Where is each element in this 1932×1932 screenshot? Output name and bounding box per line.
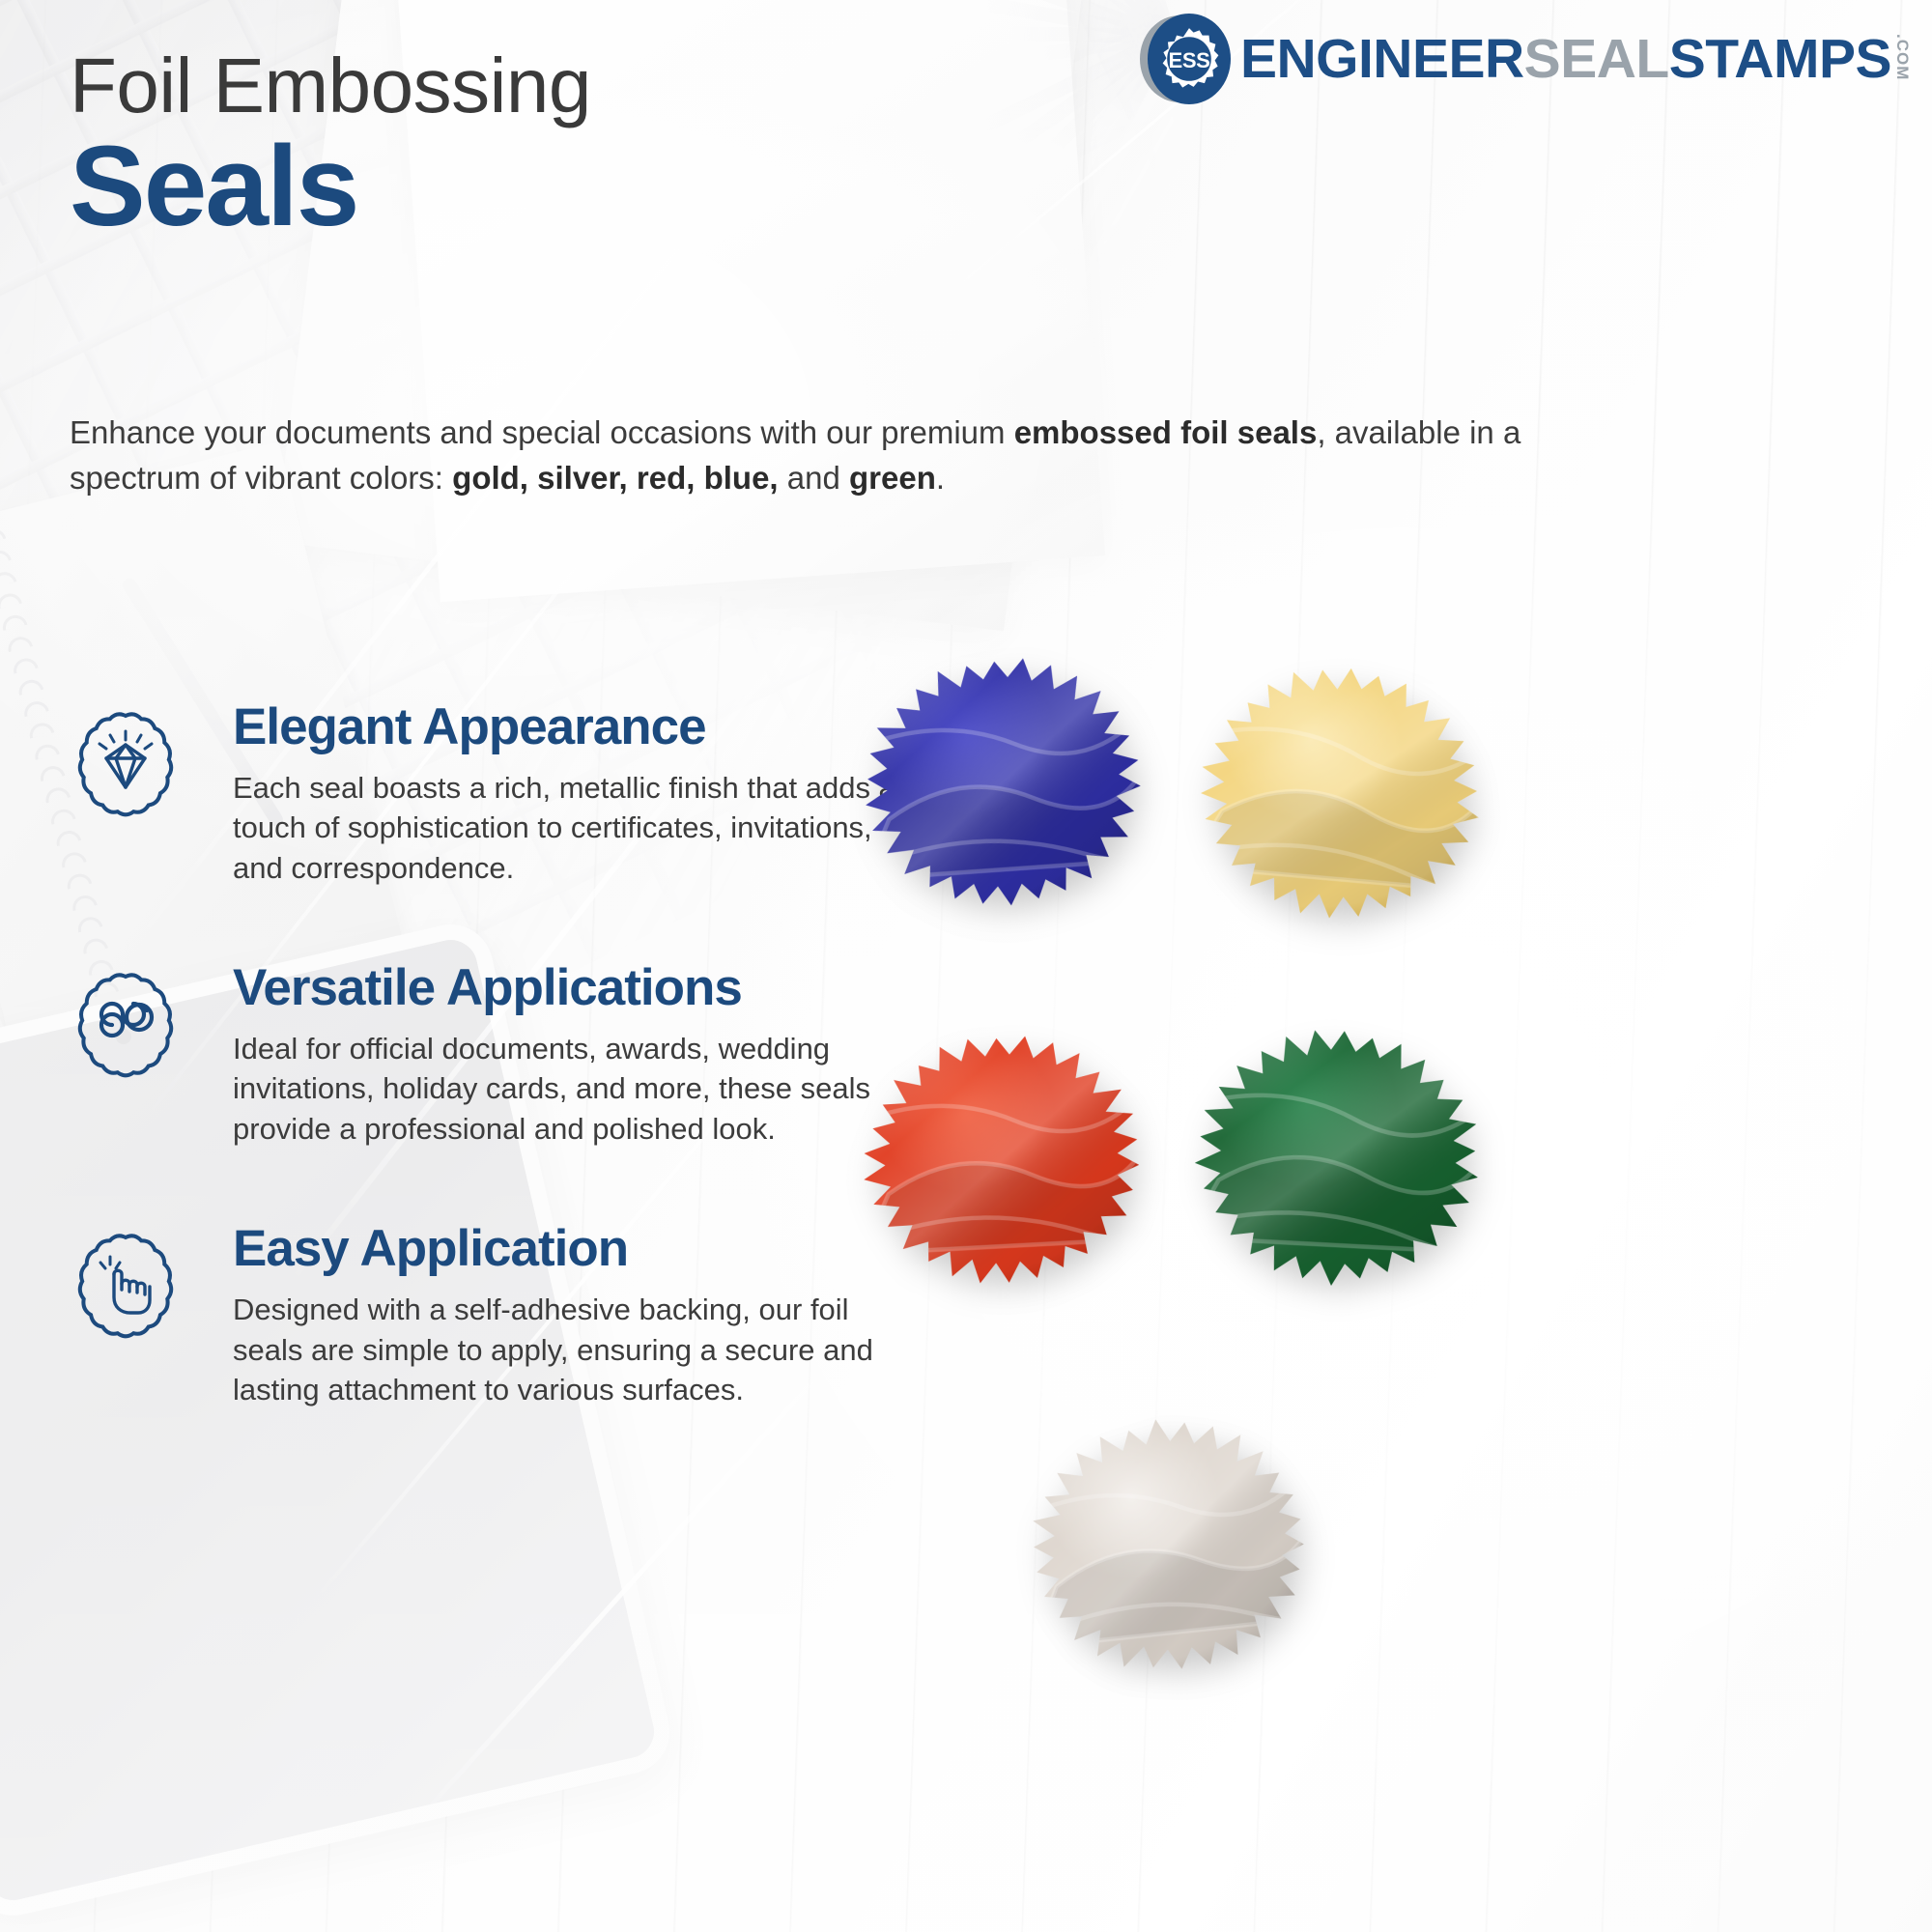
feature-body: Each seal boasts a rich, metallic finish… <box>233 768 914 889</box>
svg-text:ESS: ESS <box>1168 48 1209 72</box>
ess-badge: ESS <box>1148 14 1231 104</box>
infinity-badge-icon <box>64 963 187 1087</box>
gold-seal-shape <box>1162 634 1520 952</box>
feature-body: Designed with a self-adhesive backing, o… <box>233 1290 914 1410</box>
logo-word-seal: SEAL <box>1524 35 1669 84</box>
intro-part-1: Enhance your documents and special occas… <box>70 414 1014 450</box>
logo-tld: .COM <box>1894 34 1911 80</box>
feature-item-elegant-appearance: Elegant Appearance Each seal boasts a ri… <box>64 700 914 888</box>
logo-word-stamps: STAMPS <box>1669 35 1891 84</box>
seal-gold <box>1162 634 1520 952</box>
intro-bold-colors: gold, silver, red, blue, <box>452 460 778 496</box>
feature-body: Ideal for official documents, awards, we… <box>233 1029 914 1150</box>
intro-bold-embossed-foil-seals: embossed foil seals <box>1014 414 1318 450</box>
feature-item-versatile-applications: Versatile Applications Ideal for officia… <box>64 961 914 1149</box>
intro-bold-green: green <box>849 460 936 496</box>
intro-part-4: . <box>936 460 945 496</box>
page-title: Foil Embossing Seals <box>70 46 591 242</box>
green-seal-shape <box>1166 1001 1509 1312</box>
feature-list: Elegant Appearance Each seal boasts a ri… <box>64 700 914 1410</box>
intro-part-3: and <box>779 460 849 496</box>
diamond-badge-icon <box>64 702 187 826</box>
brand-wordmark: ENGINEER SEAL STAMPS .COM <box>1240 34 1911 84</box>
feature-item-easy-application: Easy Application Designed with a self-ad… <box>64 1222 914 1409</box>
feature-title: Elegant Appearance <box>233 700 914 754</box>
logo-word-engineer: ENGINEER <box>1240 35 1524 84</box>
feature-title: Easy Application <box>233 1222 914 1276</box>
seal-green <box>1166 1001 1509 1312</box>
infographic-canvas: ESS ENGINEER SEAL STAMPS .COM Foil Embos… <box>0 0 1932 1932</box>
seal-silver <box>990 1384 1347 1707</box>
silver-seal-shape <box>990 1384 1347 1707</box>
headline-line-2: Seals <box>70 131 591 243</box>
gear-icon: ESS <box>1152 22 1226 96</box>
tapping-hand-badge-icon <box>64 1224 187 1348</box>
feature-title: Versatile Applications <box>233 961 914 1015</box>
headline-line-1: Foil Embossing <box>70 46 591 126</box>
brand-logo[interactable]: ESS ENGINEER SEAL STAMPS .COM <box>1148 14 1911 104</box>
intro-paragraph: Enhance your documents and special occas… <box>70 411 1528 501</box>
